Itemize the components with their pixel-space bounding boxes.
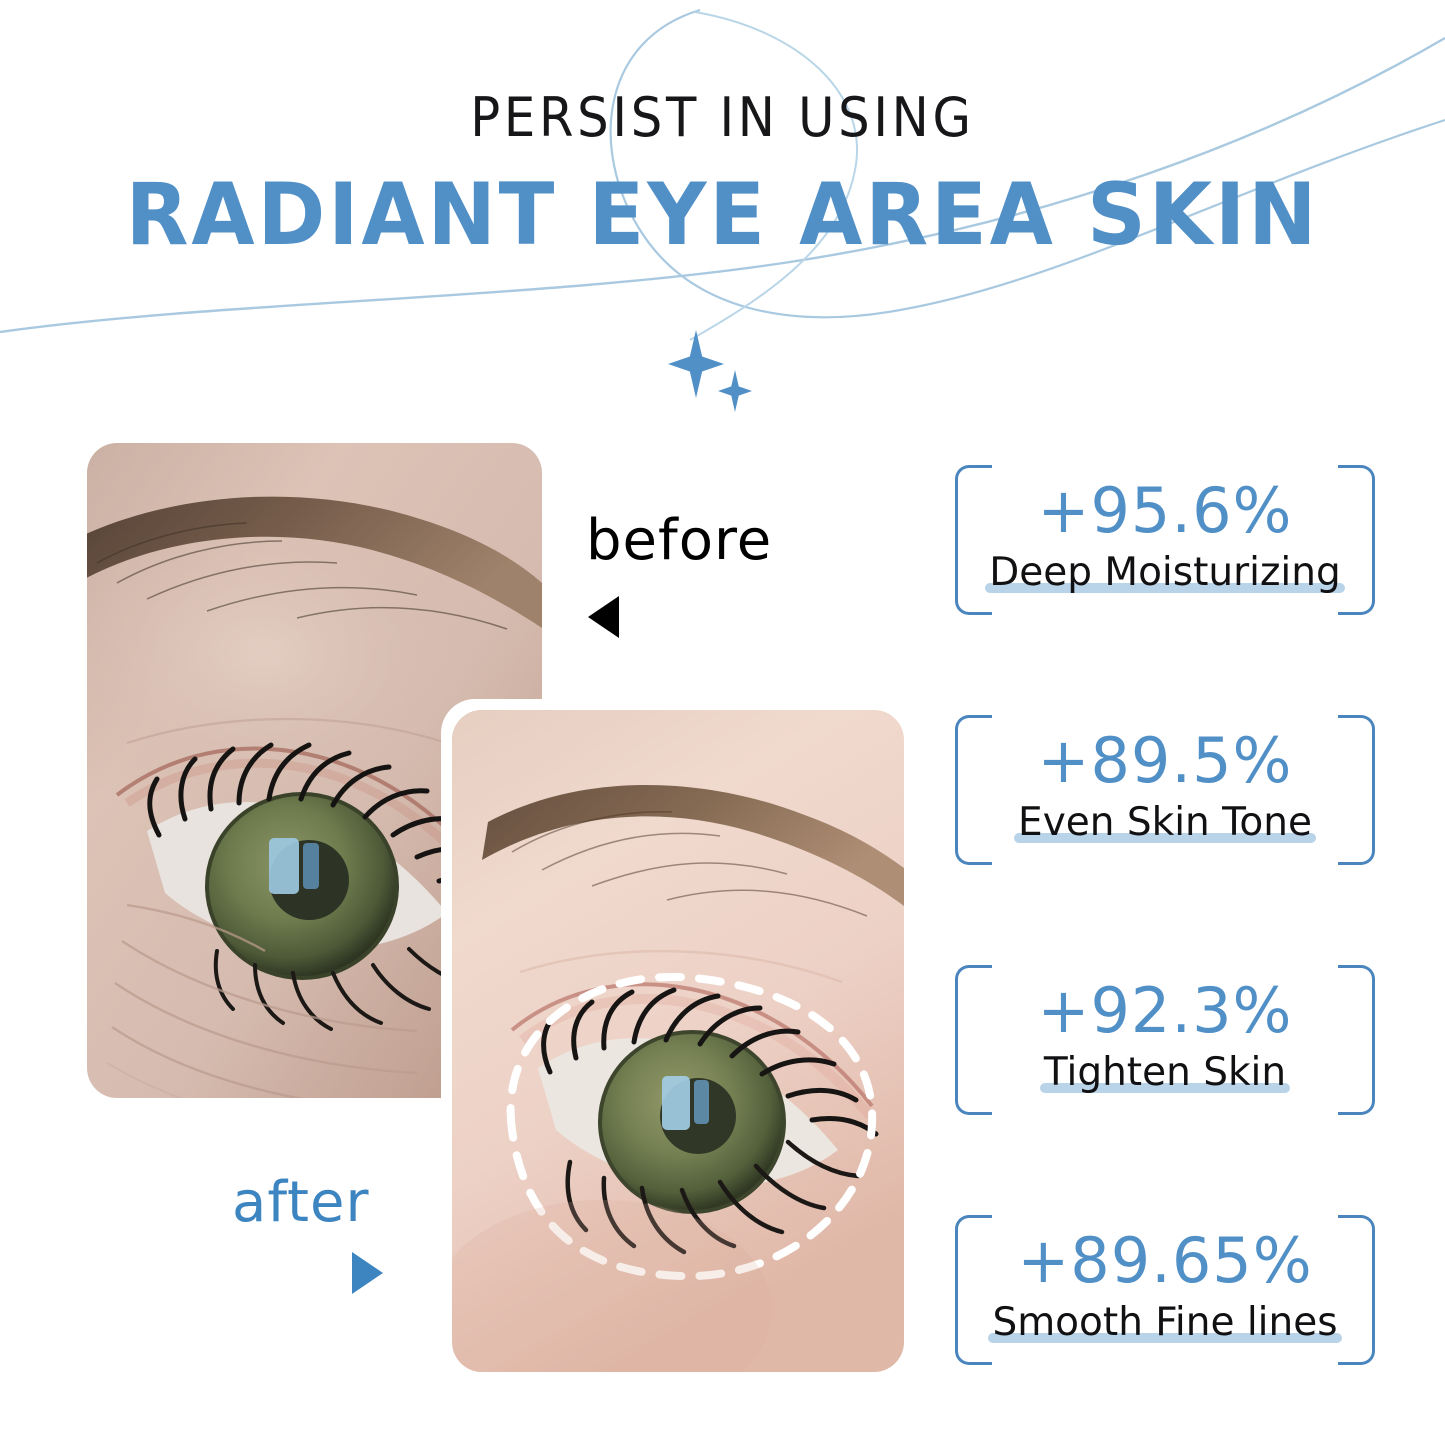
bracket-left-icon bbox=[955, 1215, 992, 1365]
bracket-right-icon bbox=[1338, 1215, 1375, 1365]
stat-label: Even Skin Tone bbox=[1018, 800, 1312, 845]
triangle-left-icon bbox=[588, 596, 619, 638]
stat-value: +89.65% bbox=[1017, 1230, 1312, 1292]
stat-label-highlight: Tighten Skin bbox=[1040, 1050, 1290, 1095]
stat-label-highlight: Smooth Fine lines bbox=[988, 1300, 1341, 1345]
stat-label: Tighten Skin bbox=[1044, 1050, 1286, 1095]
stat-item: +89.65% Smooth Fine lines bbox=[955, 1212, 1375, 1362]
after-label: after bbox=[232, 1170, 369, 1235]
headline-subtitle: PERSIST IN USING bbox=[58, 90, 1387, 147]
after-photo bbox=[452, 710, 904, 1372]
stat-label-highlight: Even Skin Tone bbox=[1014, 800, 1316, 845]
stat-item: +92.3% Tighten Skin bbox=[955, 962, 1375, 1112]
bracket-right-icon bbox=[1338, 965, 1375, 1115]
sparkle-icon bbox=[668, 330, 724, 398]
stats-panel: +95.6% Deep Moisturizing +89.5% Even Ski… bbox=[955, 462, 1375, 1362]
stat-value: +95.6% bbox=[1038, 480, 1293, 542]
bracket-left-icon bbox=[955, 715, 992, 865]
sparkle-cluster bbox=[660, 330, 790, 420]
promo-poster: PERSIST IN USING RADIANT EYE AREA SKIN bbox=[0, 0, 1445, 1445]
stat-item: +89.5% Even Skin Tone bbox=[955, 712, 1375, 862]
stat-value: +92.3% bbox=[1038, 980, 1293, 1042]
headline-title: RADIANT EYE AREA SKIN bbox=[36, 169, 1409, 262]
stat-label: Deep Moisturizing bbox=[989, 550, 1341, 595]
sparkle-small-icon bbox=[718, 370, 752, 412]
stat-item: +95.6% Deep Moisturizing bbox=[955, 462, 1375, 612]
triangle-right-icon bbox=[352, 1252, 383, 1294]
stat-value: +89.5% bbox=[1038, 730, 1293, 792]
before-label: before bbox=[586, 508, 772, 573]
headline-block: PERSIST IN USING RADIANT EYE AREA SKIN bbox=[0, 90, 1445, 262]
bracket-right-icon bbox=[1338, 715, 1375, 865]
bracket-left-icon bbox=[955, 965, 992, 1115]
stat-label: Smooth Fine lines bbox=[992, 1300, 1337, 1345]
stat-label-highlight: Deep Moisturizing bbox=[985, 550, 1345, 595]
